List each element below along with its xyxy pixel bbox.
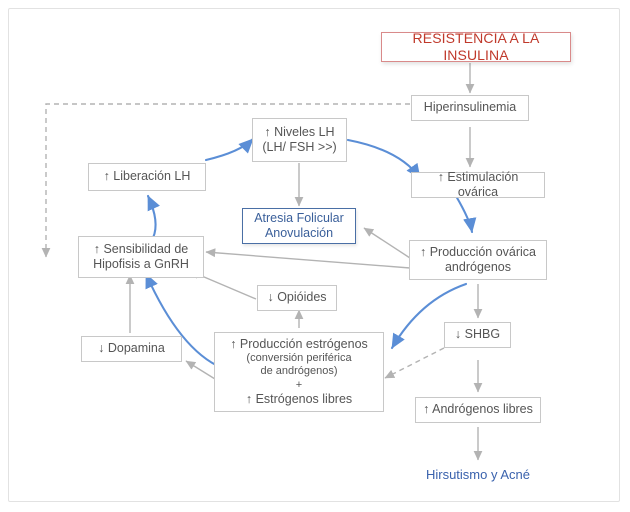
node-estimulacion-ovarica[interactable]: ↑ Estimulación ovárica — [411, 172, 545, 198]
node-opioides[interactable]: ↓ Opióides — [257, 285, 337, 311]
diagram-canvas: RESISTENCIA A LA INSULINA Hiperinsulinem… — [0, 0, 630, 512]
edge-estimulacion-produccionovarica-blue — [456, 196, 472, 232]
node-liberacion-lh[interactable]: ↑ Liberación LH — [88, 163, 206, 191]
edge-produccionovarica-sensibilidad — [206, 252, 410, 268]
node-androgenos-libres[interactable]: ↑ Andrógenos libres — [415, 397, 541, 423]
node-dopamina[interactable]: ↓ Dopamina — [81, 336, 182, 362]
node-produccion-estrogenos[interactable]: ↑ Producción estrógenos (conversión peri… — [214, 332, 384, 412]
node-hirsutismo-y-acne[interactable]: Hirsutismo y Acné — [408, 464, 548, 484]
edge-produccionovarica-atresia — [364, 228, 410, 258]
estrogenos-line-5: ↑ Estrógenos libres — [246, 392, 352, 407]
node-produccion-ovarica-androgenos[interactable]: ↑ Producción ovárica andrógenos — [409, 240, 547, 280]
node-atresia-folicular-anovulacion[interactable]: Atresia Folicular Anovulación — [242, 208, 356, 244]
edge-liberacionlh-niveleslh-blue — [206, 139, 253, 160]
edge-sensibilidad-liberacionlh-blue — [148, 196, 156, 238]
node-niveles-lh[interactable]: ↑ Niveles LH (LH/ FSH >>) — [252, 118, 347, 162]
node-shbg[interactable]: ↓ SHBG — [444, 322, 511, 348]
edge-estrogenos-dopamina — [186, 361, 215, 379]
node-hiperinsulinemia[interactable]: Hiperinsulinemia — [411, 95, 529, 121]
estrogenos-line-3: de andrógenos) — [260, 365, 337, 378]
estrogenos-line-1: ↑ Producción estrógenos — [230, 337, 368, 352]
node-resistencia-a-la-insulina[interactable]: RESISTENCIA A LA INSULINA — [381, 32, 571, 62]
edge-niveleslh-estimulacion-blue — [348, 140, 420, 178]
estrogenos-line-4: + — [296, 379, 302, 392]
node-sensibilidad-hipofisis-gnrh[interactable]: ↑ Sensibilidad de Hipofisis a GnRH — [78, 236, 204, 278]
edge-shbg-estrogenos-dashed — [385, 348, 444, 378]
estrogenos-line-2: (conversión periférica — [246, 352, 351, 365]
